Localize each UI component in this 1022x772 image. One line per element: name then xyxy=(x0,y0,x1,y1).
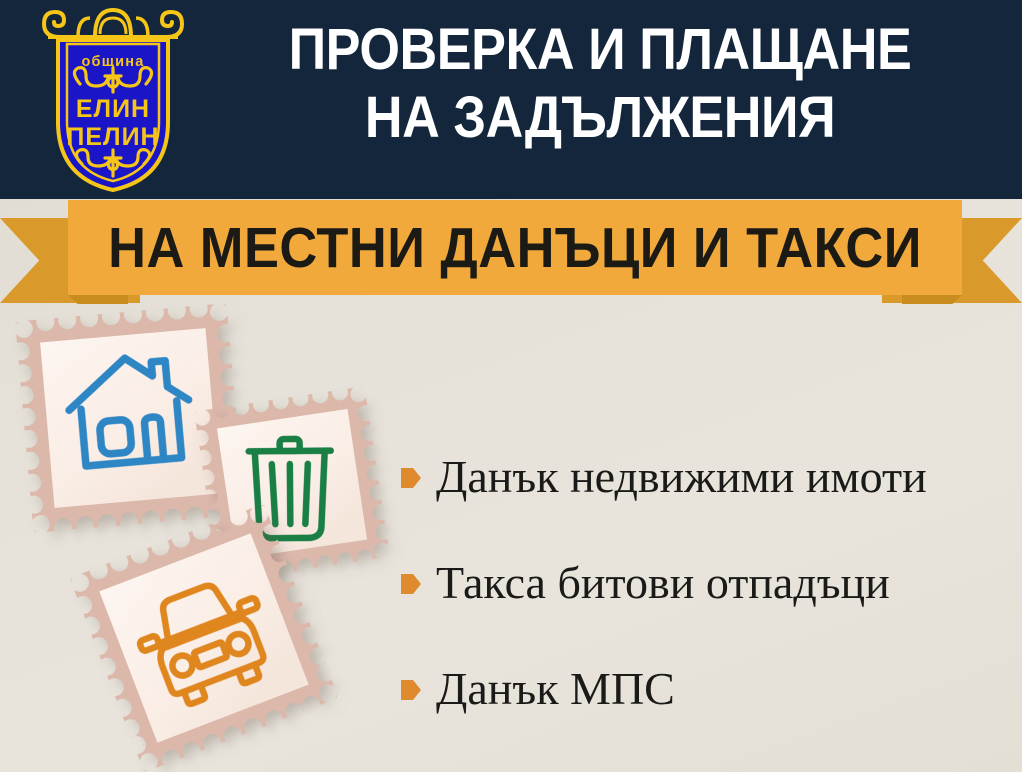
ribbon-label: НА МЕСТНИ ДАНЪЦИ И ТАКСИ xyxy=(104,200,926,295)
list-item-label: Данък недвижими имоти xyxy=(436,454,927,500)
list-item[interactable]: Данък МПС xyxy=(400,636,1010,742)
ribbon-fold-left xyxy=(68,295,128,304)
stamp-paper xyxy=(40,328,220,508)
list-item[interactable]: Данък недвижими имоти xyxy=(400,424,1010,530)
poster-canvas: община ЕЛИН ПЕЛИН ПРОВЕРКА И ПЛ xyxy=(0,0,1022,772)
arrow-pentagon-bullet-icon xyxy=(400,465,422,491)
services-list: Данък недвижими имоти Такса битови отпад… xyxy=(400,424,1010,742)
list-item[interactable]: Такса битови отпадъци xyxy=(400,530,1010,636)
municipality-logo: община ЕЛИН ПЕЛИН xyxy=(40,4,186,194)
list-item-label: Такса битови отпадъци xyxy=(436,560,890,606)
list-item-label: Данък МПС xyxy=(436,666,675,712)
arrow-pentagon-bullet-icon xyxy=(400,571,422,597)
ribbon-banner: НА МЕСТНИ ДАНЪЦИ И ТАКСИ xyxy=(0,200,1022,310)
page-title: ПРОВЕРКА И ПЛАЩАНЕ НА ЗАДЪЛЖЕНИЯ xyxy=(231,16,969,152)
ribbon-fold-right xyxy=(902,295,962,304)
logo-word-elin: ЕЛИН xyxy=(76,95,150,123)
coat-of-arms-icon: община ЕЛИН ПЕЛИН xyxy=(40,4,186,194)
logo-word-pelin: ПЕЛИН xyxy=(66,123,159,151)
arrow-pentagon-bullet-icon xyxy=(400,677,422,703)
